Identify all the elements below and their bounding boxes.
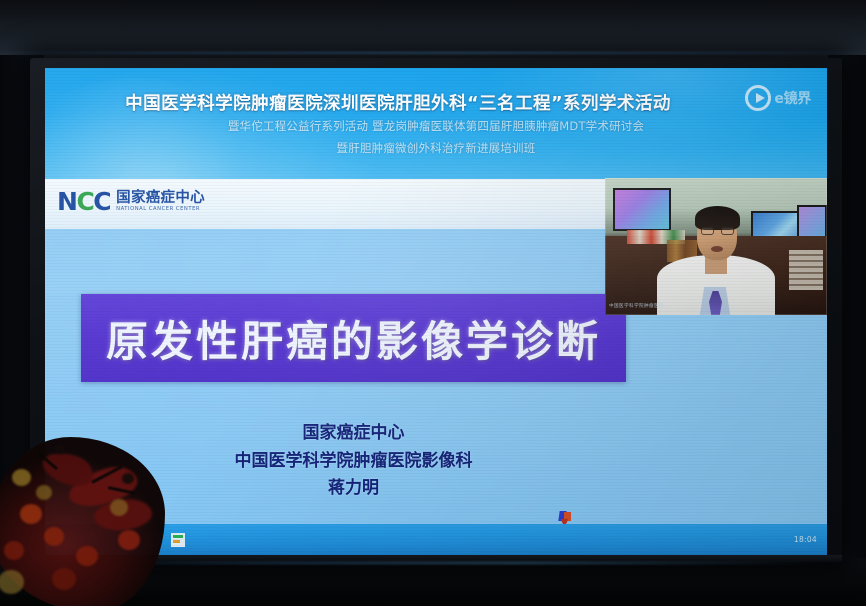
taskbar-icon-group: [123, 533, 185, 547]
presenter-name: 蒋力明: [81, 475, 626, 503]
presenter-webcam-feed[interactable]: 中国医学科学院肿瘤医院: [605, 178, 827, 315]
conference-title: 中国医学科学院肿瘤医院深圳医院肝胆外科“三名工程”系列学术活动: [45, 90, 827, 115]
presenter-glasses: [701, 227, 734, 235]
slide-logo-strip: NCC 国家癌症中心 NATIONAL CANCER CENTER: [45, 179, 605, 229]
affiliation-line-2: 中国医学科学院肿瘤医院影像科: [81, 448, 626, 476]
room-floor-below-screen: [0, 558, 866, 606]
conference-subtitle-line-2: 暨肝胆肿瘤微创外科治疗新进展培训班: [45, 140, 827, 156]
conference-subtitle-line-1: 暨华佗工程公益行系列活动 暨龙岗肿瘤医联体第四届肝胆胰肿瘤MDT学术研讨会: [45, 118, 827, 134]
presenter-affiliation-block: 国家癌症中心 中国医学科学院肿瘤医院影像科 蒋力明: [81, 420, 626, 503]
monitor-edge-glow: [36, 562, 836, 564]
ncc-letter-n: N: [57, 187, 76, 216]
ncc-name-english: NATIONAL CANCER CENTER: [116, 207, 205, 212]
chevron-up-icon[interactable]: [123, 533, 137, 547]
play-circle-icon: [745, 85, 771, 111]
windows-taskbar[interactable]: 18:04: [45, 524, 827, 555]
taskbar-clock[interactable]: 18:04: [794, 535, 817, 544]
affiliation-line-1: 国家癌症中心: [81, 420, 626, 448]
screen-display-area: 中国医学科学院肿瘤医院深圳医院肝胆外科“三名工程”系列学术活动 暨华佗工程公益行…: [45, 68, 827, 555]
monitor-lower-bezel: [30, 555, 842, 562]
webcam-monitor-left: [613, 188, 671, 231]
slide-header-banner: 中国医学科学院肿瘤医院深圳医院肝胆外科“三名工程”系列学术活动 暨华佗工程公益行…: [45, 68, 827, 179]
slide-upper-gap: [45, 229, 605, 294]
webcam-caption-overlay: 中国医学科学院肿瘤医院: [609, 303, 664, 309]
ejingjie-brand-logo: e镜界: [745, 85, 811, 111]
slide-title-text: 原发性肝癌的影像学诊断: [81, 294, 626, 382]
room-photograph: 中国医学科学院肿瘤医院深圳医院肝胆外科“三名工程”系列学术活动 暨华佗工程公益行…: [0, 0, 866, 606]
brand-name-label: e镜界: [774, 88, 811, 108]
room-wall-above-screen: [0, 0, 866, 62]
presentation-slide: 中国医学科学院肿瘤医院深圳医院肝胆外科“三名工程”系列学术活动 暨华佗工程公益行…: [45, 68, 827, 524]
presenter-mouth: [711, 246, 723, 252]
ncc-letter-c2: C: [93, 187, 110, 216]
slide-title-band: 原发性肝癌的影像学诊断: [81, 294, 626, 382]
ncc-name-block: 国家癌症中心 NATIONAL CANCER CENTER: [116, 191, 205, 212]
webcam-book-stack: [789, 250, 823, 290]
ncc-name-chinese: 国家癌症中心: [116, 191, 205, 206]
ncc-wordmark: NCC: [57, 189, 110, 214]
app-circle-icon[interactable]: [147, 533, 161, 547]
ncc-letter-c1: C: [76, 187, 93, 216]
app-bars-icon[interactable]: [171, 533, 185, 547]
ncc-logo: NCC 国家癌症中心 NATIONAL CANCER CENTER: [57, 189, 205, 214]
